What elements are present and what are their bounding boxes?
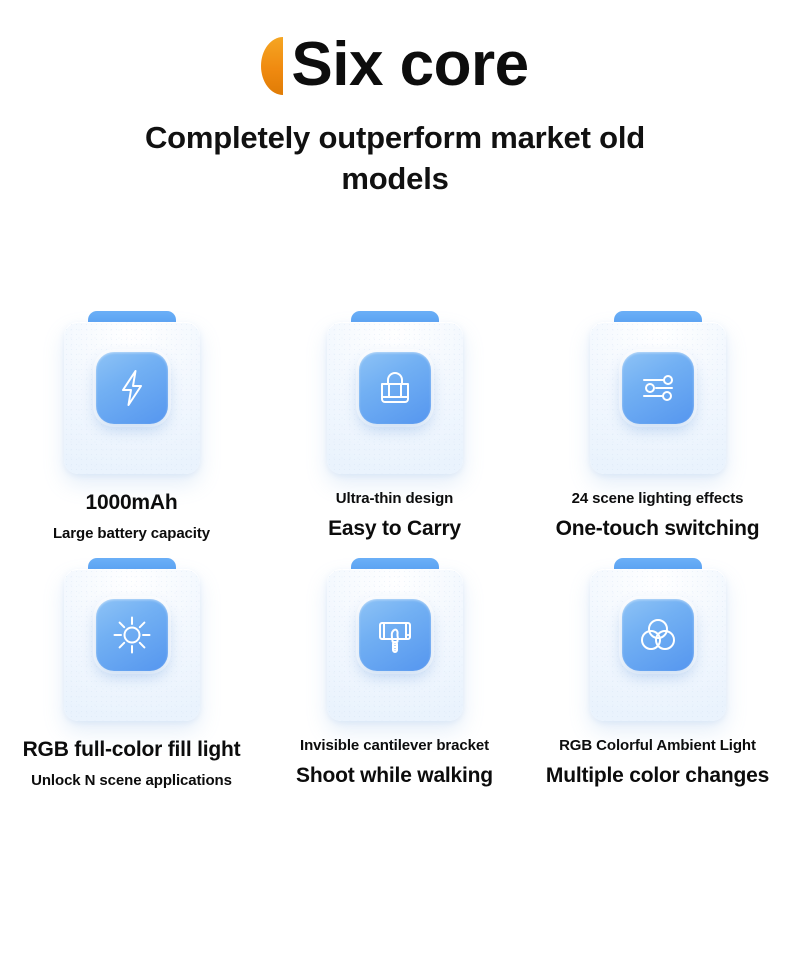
card-visual <box>56 547 208 729</box>
card-visual <box>582 547 734 729</box>
caption-secondary: Ultra-thin design <box>336 490 453 509</box>
sun-icon <box>110 613 154 657</box>
card-caption: RGB full-color fill light Unlock N scene… <box>5 737 258 790</box>
caption-primary: Easy to Carry <box>328 516 461 542</box>
handbag-icon <box>373 366 417 410</box>
caption-primary: 1000mAh <box>86 490 178 516</box>
caption-primary: Shoot while walking <box>296 763 493 789</box>
card-caption: 24 scene lighting effects One-touch swit… <box>531 490 784 541</box>
icon-tile <box>96 599 168 671</box>
lightning-bolt-icon <box>110 366 154 410</box>
card-visual <box>56 300 208 482</box>
rgb-circles-icon <box>636 613 680 657</box>
card-caption: Ultra-thin design Easy to Carry <box>268 490 521 541</box>
caption-primary: One-touch switching <box>556 516 760 542</box>
orange-leaf-accent-icon <box>261 37 283 95</box>
icon-tile <box>96 352 168 424</box>
card-visual <box>582 300 734 482</box>
caption-secondary: Large battery capacity <box>53 525 210 544</box>
caption-secondary: RGB Colorful Ambient Light <box>559 737 756 756</box>
icon-tile <box>622 352 694 424</box>
feature-card-scene-lighting[interactable]: 24 scene lighting effects One-touch swit… <box>531 300 784 543</box>
card-caption: RGB Colorful Ambient Light Multiple colo… <box>531 737 784 788</box>
feature-poster: Six core Completely outperform market ol… <box>0 0 790 978</box>
caption-primary: Multiple color changes <box>546 763 769 789</box>
selfie-stick-icon <box>373 613 417 657</box>
feature-card-cantilever-bracket[interactable]: Invisible cantilever bracket Shoot while… <box>268 547 521 790</box>
card-caption: Invisible cantilever bracket Shoot while… <box>268 737 521 788</box>
caption-secondary: 24 scene lighting effects <box>572 490 744 509</box>
icon-tile <box>622 599 694 671</box>
icon-tile <box>359 352 431 424</box>
card-visual <box>319 547 471 729</box>
feature-card-thin-design[interactable]: Ultra-thin design Easy to Carry <box>268 300 521 543</box>
caption-primary: RGB full-color fill light <box>23 737 241 763</box>
title-row: Six core <box>0 26 790 104</box>
header: Six core Completely outperform market ol… <box>0 0 790 200</box>
feature-card-ambient-light[interactable]: RGB Colorful Ambient Light Multiple colo… <box>531 547 784 790</box>
feature-grid: 1000mAh Large battery capacity <box>0 300 790 791</box>
icon-tile <box>359 599 431 671</box>
caption-secondary: Unlock N scene applications <box>31 772 232 791</box>
feature-card-battery[interactable]: 1000mAh Large battery capacity <box>5 300 258 543</box>
card-caption: 1000mAh Large battery capacity <box>5 490 258 543</box>
page-title: Six core <box>291 34 528 96</box>
sliders-icon <box>636 366 680 410</box>
page-subtitle: Completely outperform market old models <box>90 118 700 200</box>
feature-card-fill-light[interactable]: RGB full-color fill light Unlock N scene… <box>5 547 258 790</box>
card-visual <box>319 300 471 482</box>
caption-secondary: Invisible cantilever bracket <box>300 737 489 756</box>
